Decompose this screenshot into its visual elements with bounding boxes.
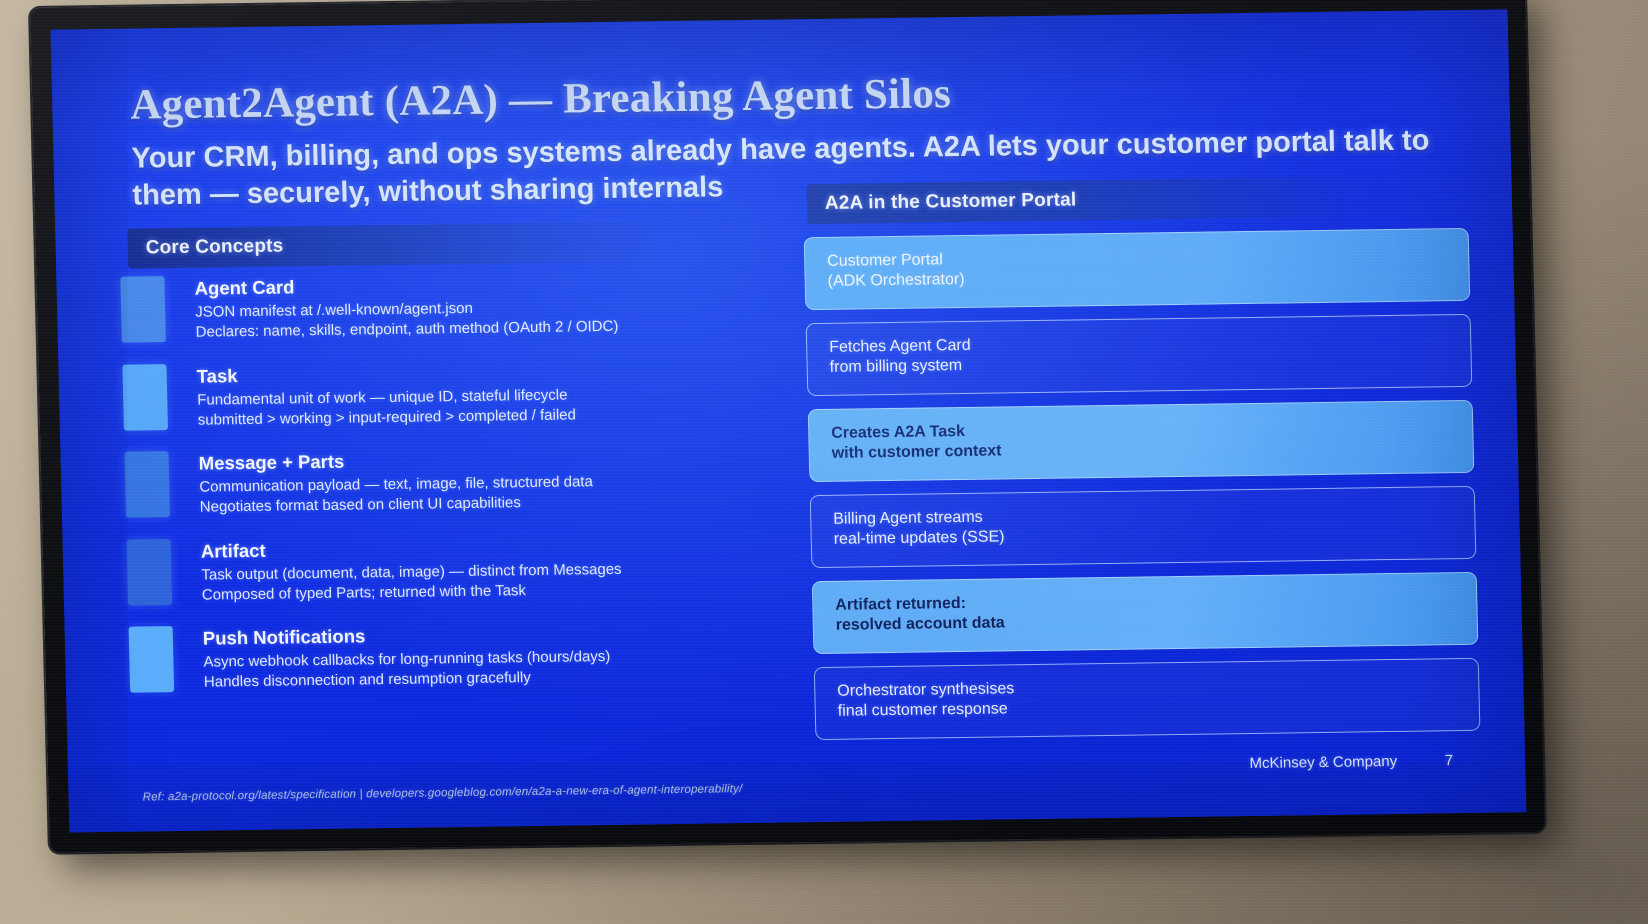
concept-swatch-icon <box>129 626 175 693</box>
concept-item: Message + PartsCommunication payload — t… <box>124 442 806 519</box>
flow-step-box: Orchestrator synthesisesfinal customer r… <box>814 657 1481 739</box>
concept-text: ArtifactTask output (document, data, ima… <box>201 532 623 605</box>
presentation-slide: Agent2Agent (A2A) — Breaking Agent Silos… <box>51 9 1527 832</box>
concept-swatch-icon <box>124 451 170 518</box>
concept-text: Message + PartsCommunication payload — t… <box>198 445 593 518</box>
customer-portal-header: A2A in the Customer Portal <box>806 175 1467 224</box>
a2a-flow-list: Customer Portal(ADK Orchestrator)Fetches… <box>804 228 1481 753</box>
concept-detail-line: Handles disconnection and resumption gra… <box>204 667 611 693</box>
concept-swatch-icon <box>122 364 168 431</box>
concept-name: Task <box>196 360 575 387</box>
concept-item: ArtifactTask output (document, data, ima… <box>127 530 809 607</box>
concept-item: TaskFundamental unit of work — unique ID… <box>122 355 804 432</box>
core-concepts-header: Core Concepts <box>127 220 783 269</box>
flow-step-box: Customer Portal(ADK Orchestrator) <box>804 228 1471 310</box>
concept-text: Push NotificationsAsync webhook callback… <box>203 620 611 693</box>
concept-text: TaskFundamental unit of work — unique ID… <box>196 358 576 431</box>
reference-footnote: Ref: a2a-protocol.org/latest/specificati… <box>142 783 742 803</box>
concept-detail-line: Negotiates format based on client UI cap… <box>200 492 594 518</box>
concept-text: Agent CardJSON manifest at /.well-known/… <box>194 270 618 343</box>
concept-detail-line: submitted > working > input-required > c… <box>198 405 577 431</box>
page-number: 7 <box>1445 752 1454 769</box>
core-concepts-list: Agent CardJSON manifest at /.well-known/… <box>120 267 810 714</box>
concept-name: Push Notifications <box>203 622 610 650</box>
photo-scene: Agent2Agent (A2A) — Breaking Agent Silos… <box>0 0 1648 924</box>
concept-name: Agent Card <box>194 272 617 300</box>
concept-swatch-icon <box>127 539 173 606</box>
concept-name: Artifact <box>201 534 622 562</box>
brand-label: McKinsey & Company <box>1249 753 1397 772</box>
customer-portal-header-label: A2A in the Customer Portal <box>825 189 1077 215</box>
concept-swatch-icon <box>120 276 166 343</box>
slide-title: Agent2Agent (A2A) — Breaking Agent Silos <box>130 67 1131 130</box>
flow-step-box: Fetches Agent Cardfrom billing system <box>806 314 1473 396</box>
flow-step-box: Billing Agent streamsreal-time updates (… <box>810 486 1477 568</box>
concept-name: Message + Parts <box>199 447 593 474</box>
flow-step-box: Artifact returned:resolved account data <box>812 572 1479 654</box>
television-display: Agent2Agent (A2A) — Breaking Agent Silos… <box>30 0 1545 853</box>
concept-item: Agent CardJSON manifest at /.well-known/… <box>120 267 802 344</box>
flow-step-box: Creates A2A Taskwith customer context <box>808 400 1475 482</box>
core-concepts-header-label: Core Concepts <box>145 235 283 259</box>
tv-screen: Agent2Agent (A2A) — Breaking Agent Silos… <box>51 9 1527 832</box>
concept-item: Push NotificationsAsync webhook callback… <box>129 617 811 694</box>
